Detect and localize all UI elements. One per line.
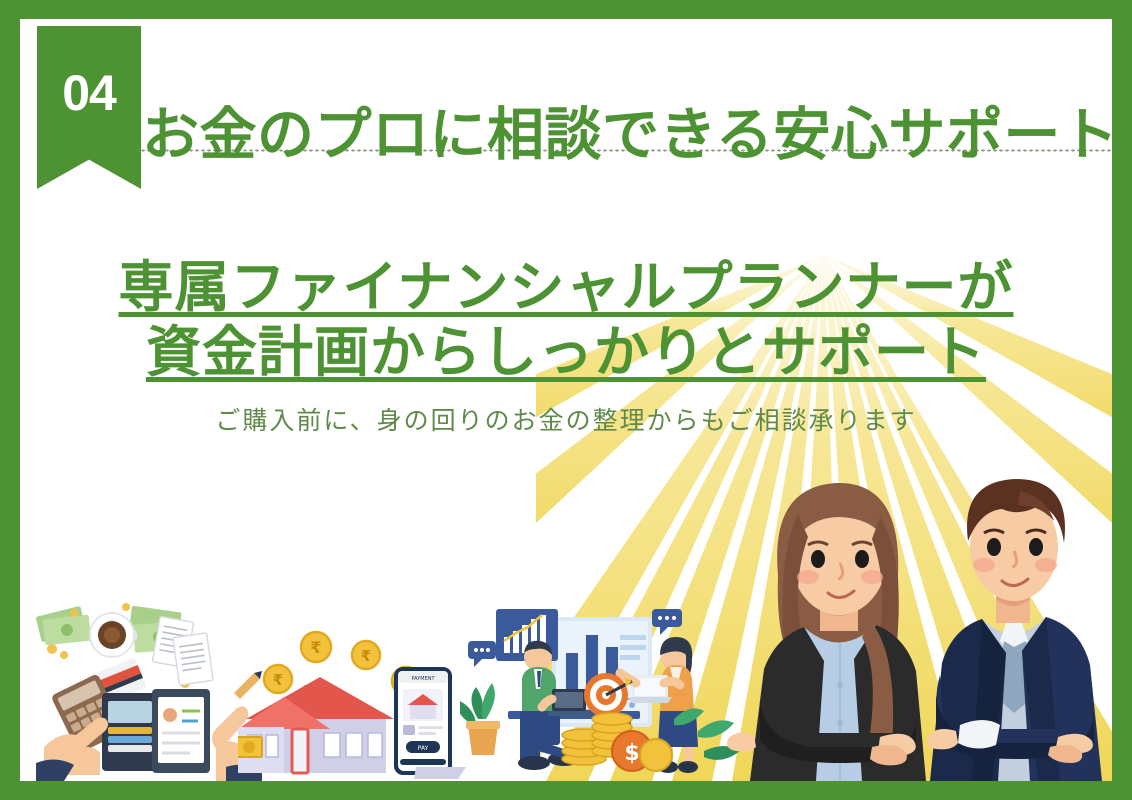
svg-text:₹: ₹ <box>310 638 321 657</box>
svg-text:PAY: PAY <box>418 745 429 752</box>
financial-planners-illustration <box>720 447 1112 781</box>
svg-text:$: $ <box>624 741 639 766</box>
house-payment-illustration: ₹ ₹ ₹ ₹ <box>238 609 474 781</box>
svg-text:₹: ₹ <box>361 647 371 665</box>
svg-text:₹: ₹ <box>273 671 283 689</box>
page-title: お金のプロに相談できる安心サポート <box>142 89 1102 181</box>
step-number-label: 04 <box>62 68 116 118</box>
headline-line-2: 資金計画からしっかりとサポート <box>20 320 1112 385</box>
headline-line-1: 専属ファイナンシャルプランナーが <box>20 255 1112 320</box>
headline-block: 専属ファイナンシャルプランナーが 資金計画からしっかりとサポート ご購入前に、身… <box>20 255 1112 437</box>
slide-root: 04 お金のプロに相談できる安心サポート 専属ファイナンシャルプランナーが 資金… <box>0 0 1132 800</box>
headline-subtitle: ご購入前に、身の回りのお金の整理からもご相談承ります <box>20 401 1112 437</box>
business-analytics-illustration: $ <box>460 591 746 781</box>
step-number-ribbon: 04 <box>37 26 141 189</box>
svg-text:PAYMENT: PAYMENT <box>411 676 435 682</box>
slide-canvas: 04 お金のプロに相談できる安心サポート 専属ファイナンシャルプランナーが 資金… <box>20 19 1112 781</box>
